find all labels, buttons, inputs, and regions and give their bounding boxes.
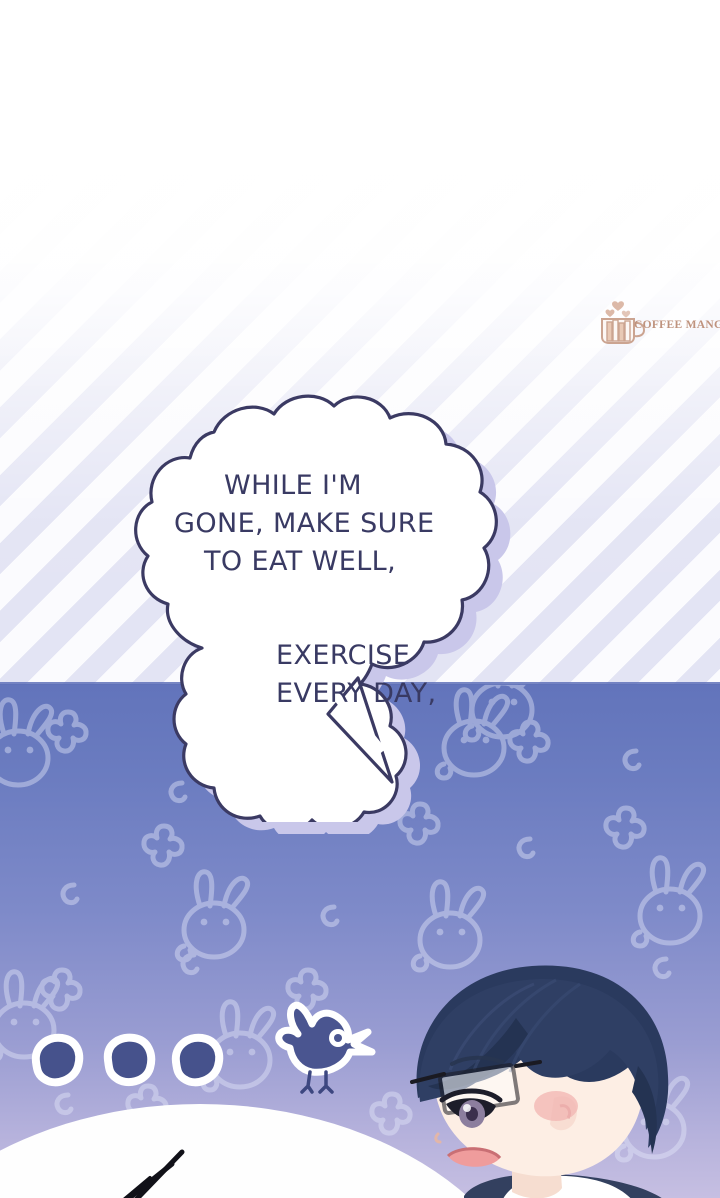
speed-lines (0, 1120, 360, 1198)
blob-bird-1 (36, 1038, 79, 1083)
blob-bird-3 (176, 1038, 219, 1083)
comic-panel: WHILE I'M GONE, MAKE SURE TO EAT WELL, E… (0, 0, 720, 1198)
dialogue-line-3: TO EAT WELL, (204, 546, 396, 577)
dialogue-line-1: WHILE I'M (224, 470, 362, 501)
dialogue-line-2: GONE, MAKE SURE (174, 508, 434, 539)
boy-with-glasses (404, 958, 720, 1198)
dialogue-line-5: EVERY DAY, (276, 678, 436, 709)
dialogue-line-4: EXERCISE (276, 640, 410, 671)
speech-bubble-text: WHILE I'M GONE, MAKE SURE TO EAT WELL, E… (96, 392, 526, 822)
crow-bird (264, 988, 384, 1098)
watermark-label: COFFEE MANGA (634, 319, 720, 331)
blob-birds-group (22, 1028, 232, 1098)
blob-bird-2 (108, 1038, 151, 1082)
speech-bubble: WHILE I'M GONE, MAKE SURE TO EAT WELL, E… (96, 392, 526, 822)
watermark: COFFEE MANGA (592, 296, 712, 346)
